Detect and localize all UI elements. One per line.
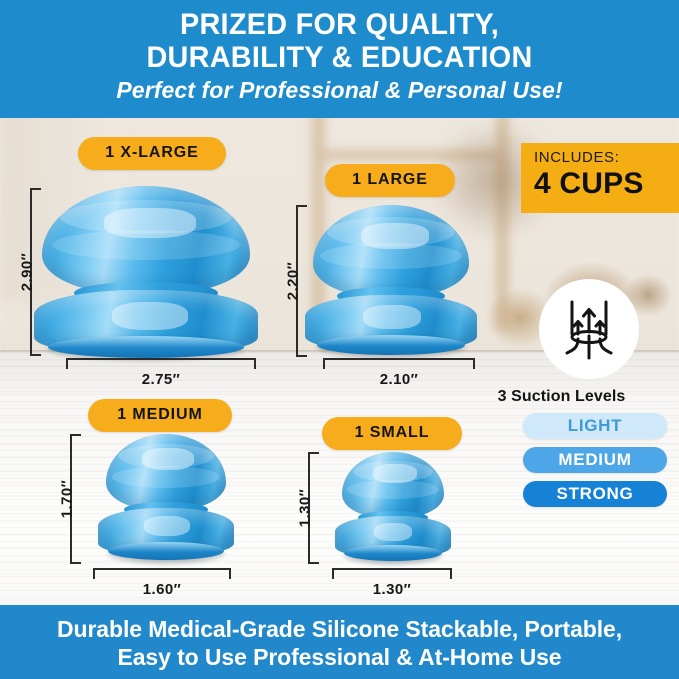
dimension-height-value-x-large: 2.90″: [19, 237, 36, 307]
badge-medium: 1 MEDIUM: [88, 399, 232, 432]
includes-label: INCLUDES:: [534, 149, 679, 166]
headline-line-1: PRIZED FOR QUALITY,: [14, 8, 666, 41]
dimension-height-value-large: 2.20″: [285, 246, 302, 316]
dimension-width-value-medium: 1.60″: [93, 581, 231, 598]
dimension-height-small: 1.30″: [300, 452, 320, 564]
suction-levels-title-text: 3 Suction Levels: [498, 388, 626, 405]
dimension-height-large: 2.20″: [288, 205, 308, 357]
suction-level-light[interactable]: LIGHT: [523, 413, 667, 439]
cup-x-large: [34, 186, 258, 358]
suction-icon-circle: [539, 279, 639, 379]
cup-large: [305, 205, 477, 357]
dimension-height-x-large: 2.90″: [22, 188, 42, 356]
suction-level-strong[interactable]: STRONG: [523, 481, 667, 507]
badge-small: 1 SMALL: [322, 417, 462, 450]
suction-level-medium[interactable]: MEDIUM: [523, 447, 667, 473]
headline-subtitle: Perfect for Professional & Personal Use!: [0, 75, 679, 105]
includes-count: 4 CUPS: [534, 167, 679, 201]
dimension-height-value-small: 1.30″: [297, 473, 314, 543]
badge-x-large: 1 X-LARGE: [78, 137, 226, 170]
product-infographic: PRIZED FOR QUALITY, DURABILITY & EDUCATI…: [0, 0, 679, 679]
dimension-height-medium: 1.70″: [62, 434, 82, 564]
cup-medium: [98, 434, 234, 564]
cup-small: [335, 452, 451, 564]
footer-line-1: Durable Medical-Grade Silicone Stackable…: [0, 615, 679, 643]
dimension-height-value-medium: 1.70″: [59, 464, 76, 534]
suction-vacuum-icon: [558, 296, 620, 362]
includes-box: INCLUDES: 4 CUPS: [521, 143, 679, 213]
badge-large: 1 LARGE: [325, 164, 455, 197]
footer-line-2: Easy to Use Professional & At-Home Use: [0, 643, 679, 671]
header-band: PRIZED FOR QUALITY, DURABILITY & EDUCATI…: [0, 0, 679, 118]
dimension-width-value-x-large: 2.75″: [66, 371, 256, 388]
dimension-width-value-small: 1.30″: [332, 581, 452, 598]
dimension-width-value-large: 2.10″: [323, 371, 475, 388]
headline-line-2: DURABILITY & EDUCATION: [14, 41, 666, 74]
footer-band: Durable Medical-Grade Silicone Stackable…: [0, 605, 679, 679]
